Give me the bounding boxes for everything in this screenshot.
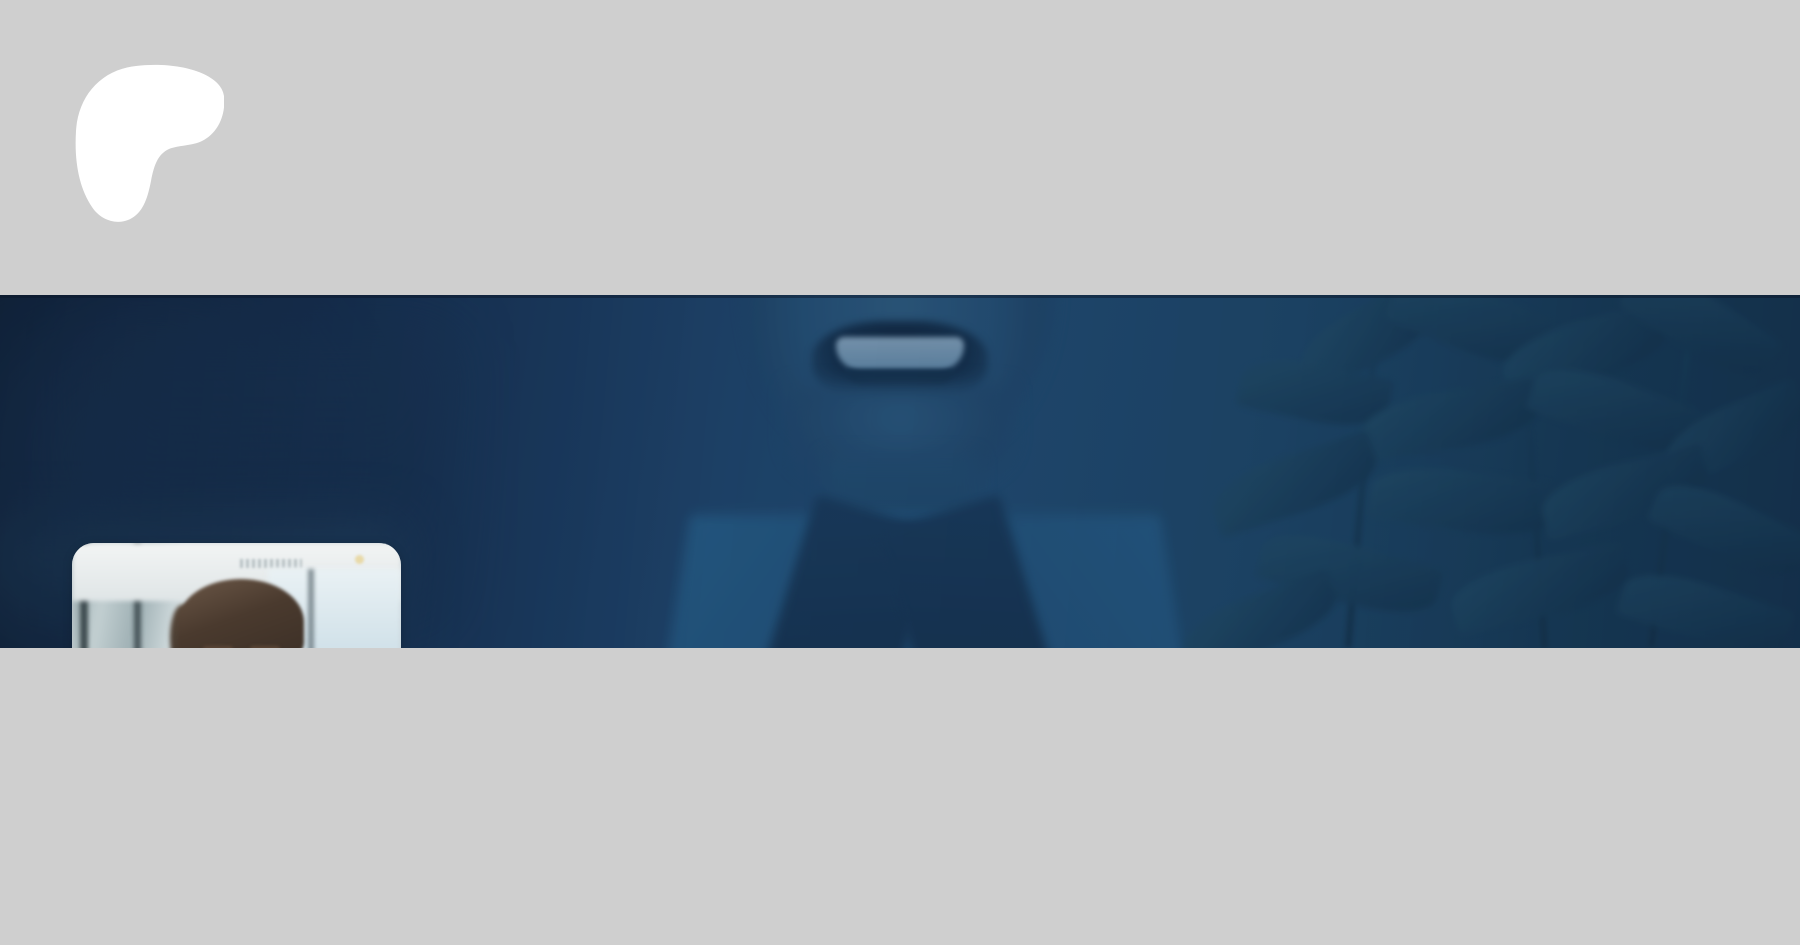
patreon-logo[interactable] [74, 64, 224, 222]
patreon-creator-page: The Grad School Prep Community Insider S… [0, 0, 1800, 945]
page-content-area [0, 648, 1800, 945]
patreon-p-icon [74, 64, 224, 222]
